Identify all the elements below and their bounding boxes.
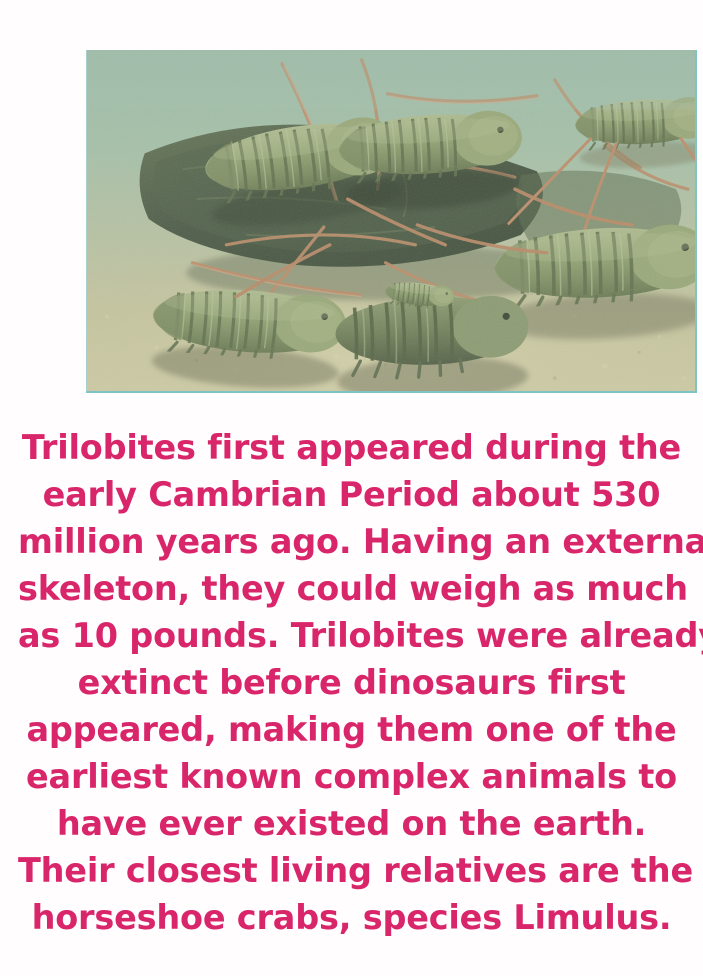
caption-line: earliest known complex animals to xyxy=(18,753,685,800)
trilobite-underwater-scene-photo xyxy=(86,50,697,393)
caption-line: extinct before dinosaurs first xyxy=(18,659,685,706)
caption-line: million years ago. Having an external xyxy=(18,518,685,565)
caption-line: as 10 pounds. Trilobites were already xyxy=(18,612,685,659)
caption-line: appeared, making them one of the xyxy=(18,706,685,753)
caption-line: Their closest living relatives are the xyxy=(18,847,685,894)
caption-line: horseshoe crabs, species Limulus. xyxy=(18,894,685,941)
caption-line: early Cambrian Period about 530 xyxy=(18,471,685,518)
caption-line: have ever existed on the earth. xyxy=(18,800,685,847)
caption-line: Trilobites first appeared during the xyxy=(18,424,685,471)
caption-line: skeleton, they could weigh as much xyxy=(18,565,685,612)
trilobite-fact-caption: Trilobites first appeared during the ear… xyxy=(18,424,685,941)
underwater-scene-illustration xyxy=(87,50,695,391)
